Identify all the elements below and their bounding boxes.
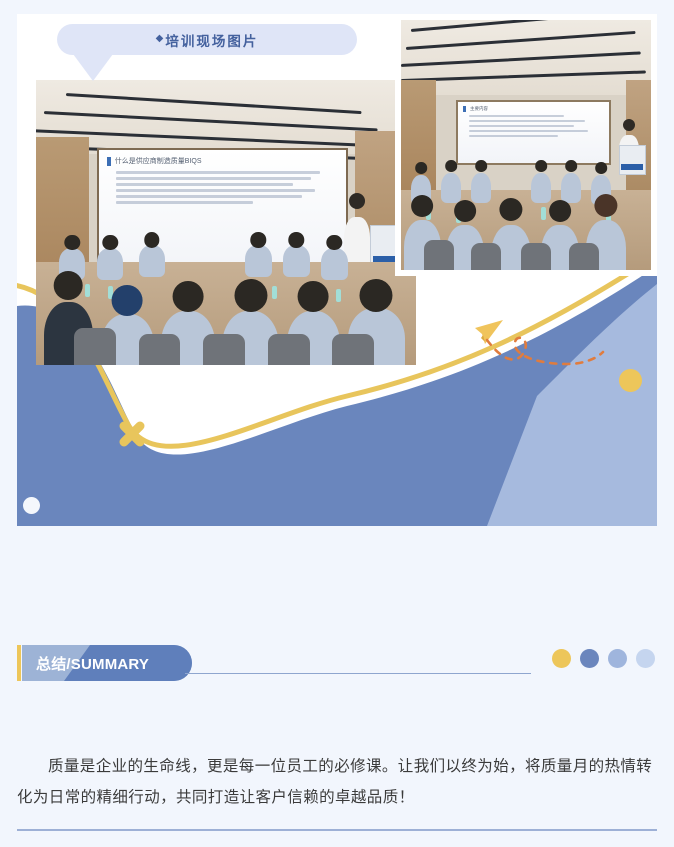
photo-card: 什么是供应商制造质量BIQS bbox=[17, 14, 657, 526]
diamond-icon: ◆ bbox=[156, 33, 164, 44]
summary-dot-1 bbox=[552, 649, 571, 668]
paper-plane-decoration bbox=[457, 294, 637, 384]
bottom-divider bbox=[17, 829, 657, 831]
secondary-training-photo: 主要内容 bbox=[395, 14, 657, 276]
summary-header: 总结/SUMMARY bbox=[17, 645, 657, 681]
summary-rule bbox=[185, 673, 531, 674]
projection-screen: 什么是供应商制造质量BIQS bbox=[97, 148, 348, 273]
white-dot-decoration bbox=[23, 497, 40, 514]
section-label-pill: ◆ 培训现场图片 bbox=[57, 24, 357, 55]
summary-paragraph: 质量是企业的生命线，更是每一位员工的必修课。让我们以终为始，将质量月的热情转化为… bbox=[17, 751, 657, 813]
summary-dot-4 bbox=[636, 649, 655, 668]
summary-dot-3 bbox=[608, 649, 627, 668]
paper-plane-icon bbox=[475, 320, 503, 344]
dashed-trail-icon bbox=[487, 338, 603, 364]
slide-title-text: 什么是供应商制造质量BIQS bbox=[115, 156, 202, 166]
summary-accent-bar bbox=[17, 645, 21, 681]
summary-badge: 总结/SUMMARY bbox=[22, 645, 192, 681]
section-label-text: 培训现场图片 bbox=[165, 30, 258, 50]
summary-dot-2 bbox=[580, 649, 599, 668]
sparkle-cross-icon bbox=[112, 414, 152, 454]
summary-dots bbox=[552, 649, 655, 668]
label-pill-tail bbox=[73, 54, 113, 81]
summary-badge-label: 总结/SUMMARY bbox=[22, 645, 192, 681]
main-training-photo: 什么是供应商制造质量BIQS bbox=[36, 80, 416, 365]
